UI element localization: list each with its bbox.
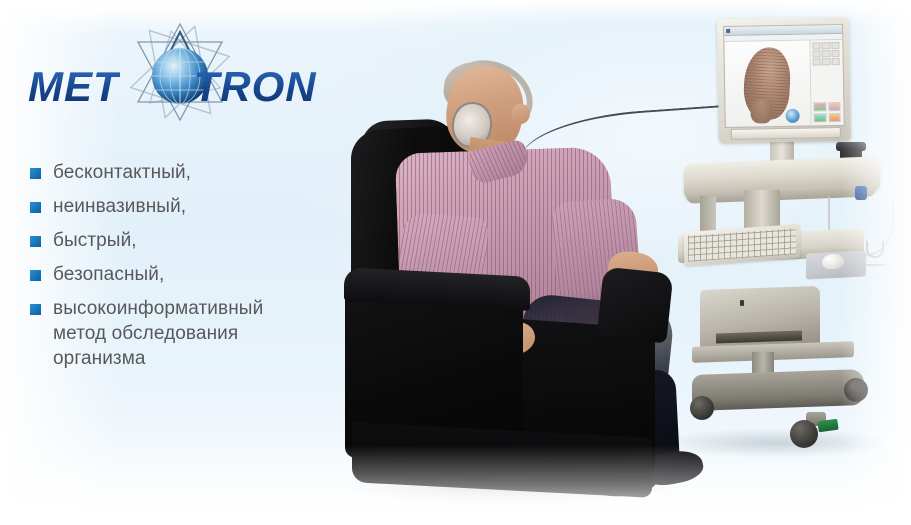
app-side-toolbar [809, 40, 842, 125]
feature-list: бесконтактный, неинвазивный, быстрый, бе… [30, 160, 330, 380]
list-item: неинвазивный, [30, 194, 330, 219]
keyboard[interactable] [684, 224, 801, 266]
tool-cell-icon [822, 50, 830, 57]
feature-label: безопасный, [53, 262, 164, 287]
feature-label: неинвазивный, [53, 194, 186, 219]
list-item: безопасный, [30, 262, 330, 287]
bullet-square-icon [30, 168, 41, 179]
bullet-square-icon [30, 202, 41, 213]
tool-cell-icon [822, 58, 830, 65]
feature-label: бесконтактный, [53, 160, 191, 185]
color-swatch [813, 102, 826, 111]
app-window-icon [726, 29, 730, 33]
printer-indicator-icon [740, 300, 744, 306]
monitor-brand-label [731, 127, 841, 140]
tool-cell-icon [822, 42, 830, 49]
recliner-right-armrest [597, 267, 674, 344]
brand-wordmark-lead: MET [28, 63, 120, 110]
color-swatch [814, 113, 827, 122]
bullet-square-icon [30, 270, 41, 281]
bullet-square-icon [30, 304, 41, 315]
tool-cell-icon [812, 50, 820, 57]
tool-cell-icon [831, 42, 839, 49]
head-scan-neck [750, 99, 772, 123]
monitor-screen [723, 24, 845, 128]
brand-logo: METTRON [28, 18, 338, 126]
list-item: быстрый, [30, 228, 330, 253]
color-swatch [828, 113, 841, 122]
feature-label: быстрый, [53, 228, 137, 253]
tool-cell-icon [831, 50, 839, 57]
list-item: высокоинформативный метод обследования о… [30, 296, 330, 371]
keyboard-keys[interactable] [688, 228, 796, 262]
diagnostic-monitor [717, 17, 851, 143]
list-item: бесконтактный, [30, 160, 330, 185]
color-swatch-panel [813, 102, 840, 122]
tool-cell-icon [813, 58, 821, 65]
brand-wordmark-tail: TRON [194, 63, 317, 110]
metatron-promo-banner: METTRON бесконтактный, неинвазивный, быс… [0, 0, 911, 525]
tool-cell-icon [831, 58, 839, 65]
cart-base-plate [692, 369, 864, 411]
feature-label: высокоинформативный метод обследования о… [53, 296, 315, 371]
cart-caster [790, 420, 818, 448]
tool-cell-icon [812, 42, 820, 49]
cart-caster [690, 396, 714, 420]
color-swatch [828, 102, 841, 111]
brand-wordmark: METTRON [28, 62, 338, 112]
bottom-edge-fade [0, 445, 911, 525]
bullet-square-icon [30, 236, 41, 247]
tool-button-grid [812, 42, 839, 65]
